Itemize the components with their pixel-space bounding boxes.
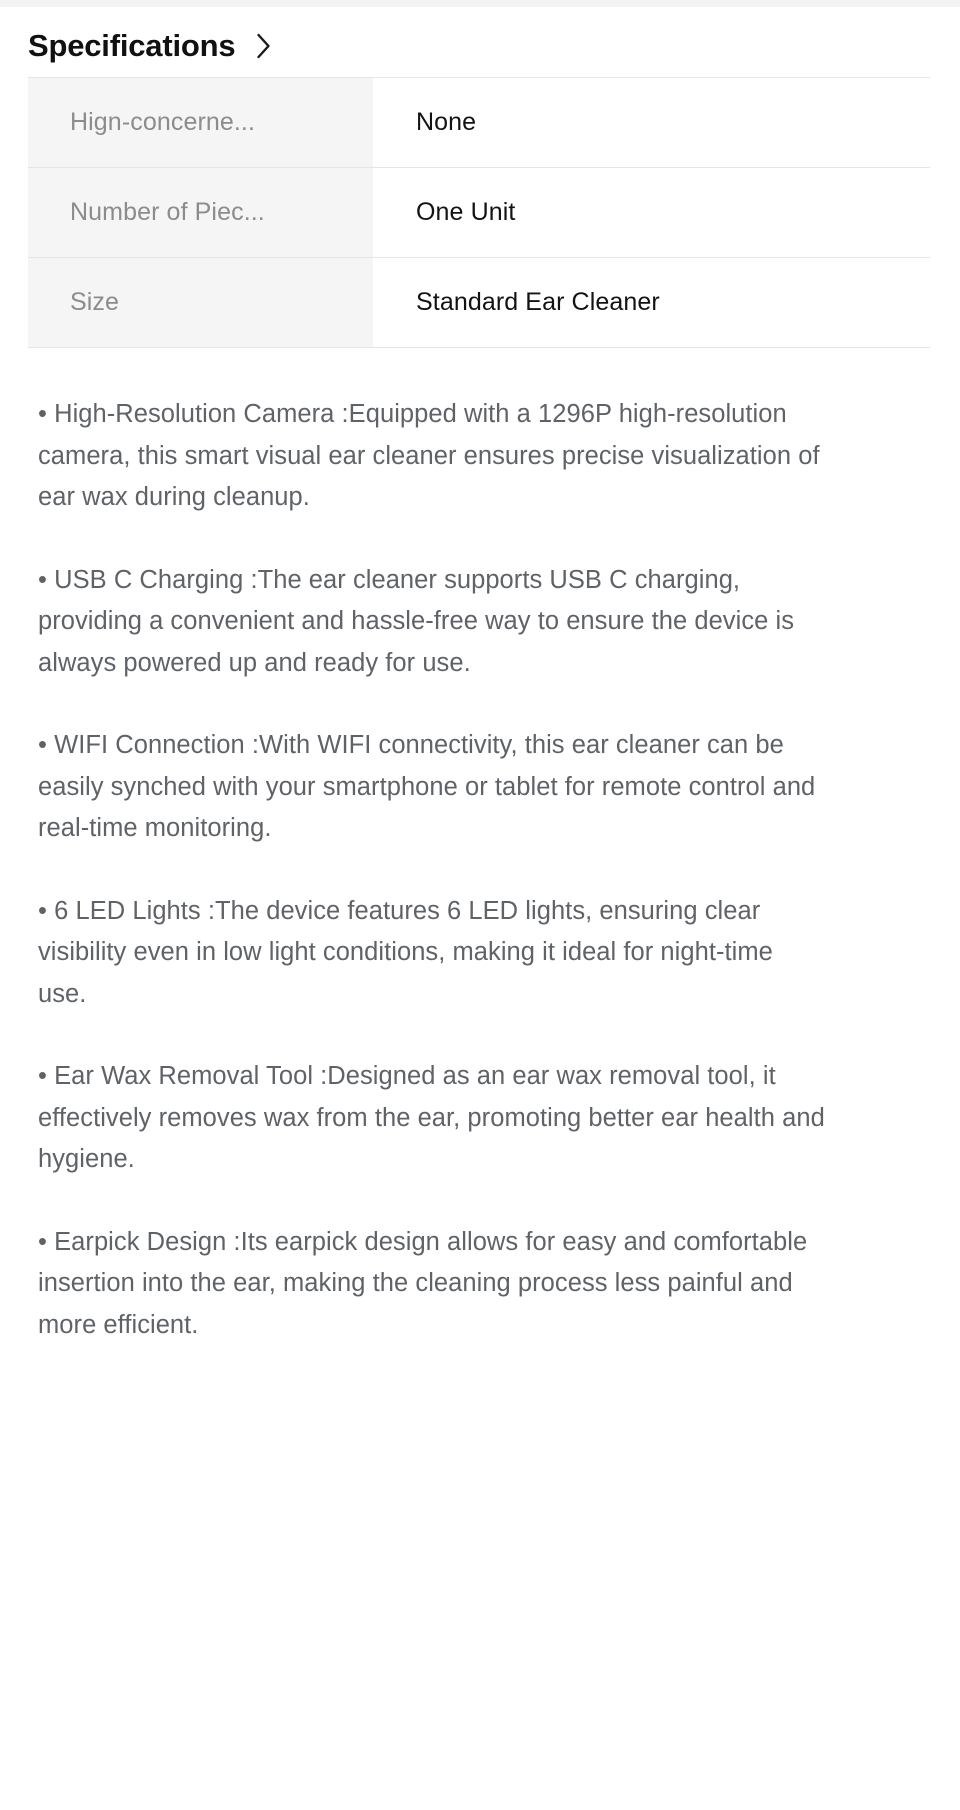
spec-value: None	[373, 78, 930, 167]
specifications-table: Hign-concerne... None Number of Piec... …	[28, 77, 930, 348]
list-item: • WIFI Connection :With WIFI connectivit…	[38, 725, 828, 850]
list-item: • USB C Charging :The ear cleaner suppor…	[38, 560, 828, 685]
table-row: Number of Piec... One Unit	[28, 168, 930, 258]
spec-key: Number of Piec...	[28, 168, 373, 257]
chevron-right-icon[interactable]	[253, 31, 275, 61]
table-row: Size Standard Ear Cleaner	[28, 258, 930, 348]
specifications-section: Specifications Hign-concerne... None Num…	[0, 7, 960, 1346]
page-title: Specifications	[28, 29, 235, 63]
section-divider	[0, 0, 960, 7]
table-row: Hign-concerne... None	[28, 78, 930, 168]
spec-key: Size	[28, 258, 373, 347]
list-item: • Ear Wax Removal Tool :Designed as an e…	[38, 1056, 828, 1181]
spec-key: Hign-concerne...	[28, 78, 373, 167]
spec-value: Standard Ear Cleaner	[373, 258, 930, 347]
product-detail-page: Specifications Hign-concerne... None Num…	[0, 0, 960, 1810]
list-item: • 6 LED Lights :The device features 6 LE…	[38, 891, 828, 1016]
spec-value: One Unit	[373, 168, 930, 257]
specifications-header[interactable]: Specifications	[0, 7, 960, 77]
list-item: • Earpick Design :Its earpick design all…	[38, 1222, 828, 1347]
list-item: • High-Resolution Camera :Equipped with …	[38, 394, 828, 519]
product-description: • High-Resolution Camera :Equipped with …	[0, 348, 960, 1346]
